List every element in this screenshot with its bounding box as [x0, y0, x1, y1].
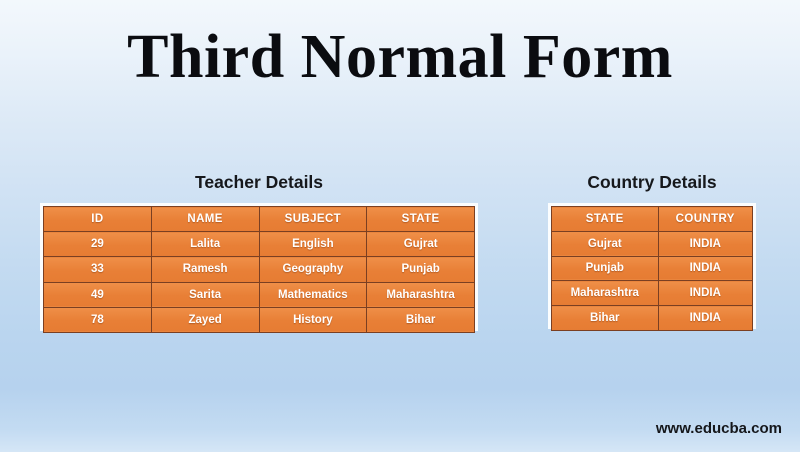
teacher-details-caption: Teacher Details	[40, 172, 478, 192]
footer-website-url: www.educba.com	[656, 420, 782, 438]
cell-name: Sarita	[151, 282, 259, 307]
teacher-details-table-frame: ID NAME SUBJECT STATE 29 Lalita English …	[40, 203, 478, 331]
teacher-details-table: ID NAME SUBJECT STATE 29 Lalita English …	[43, 206, 475, 333]
column-header-name: NAME	[151, 207, 259, 232]
cell-subject: Mathematics	[259, 282, 367, 307]
cell-state: Maharashtra	[367, 282, 475, 307]
cell-name: Ramesh	[151, 257, 259, 282]
cell-state: Maharashtra	[552, 281, 659, 306]
column-header-state: STATE	[552, 207, 659, 232]
table-row: 29 Lalita English Gujrat	[44, 232, 475, 257]
cell-country: INDIA	[658, 231, 752, 256]
table-row: Bihar INDIA	[552, 306, 753, 331]
table-header-row: ID NAME SUBJECT STATE	[44, 207, 475, 232]
cell-state: Gujrat	[552, 231, 659, 256]
page-title: Third Normal Form	[0, 22, 800, 92]
cell-state: Bihar	[552, 306, 659, 331]
cell-state: Punjab	[552, 256, 659, 281]
cell-state: Gujrat	[367, 232, 475, 257]
cell-name: Lalita	[151, 232, 259, 257]
cell-subject: Geography	[259, 257, 367, 282]
country-details-table: STATE COUNTRY Gujrat INDIA Punjab INDIA …	[551, 206, 753, 331]
slide-canvas: Third Normal Form Teacher Details ID NAM…	[0, 0, 800, 452]
table-header-row: STATE COUNTRY	[552, 207, 753, 232]
table-row: Maharashtra INDIA	[552, 281, 753, 306]
cell-state: Bihar	[367, 307, 475, 332]
cell-id: 78	[44, 307, 152, 332]
cell-subject: English	[259, 232, 367, 257]
column-header-state: STATE	[367, 207, 475, 232]
column-header-country: COUNTRY	[658, 207, 752, 232]
country-details-table-frame: STATE COUNTRY Gujrat INDIA Punjab INDIA …	[548, 203, 756, 329]
cell-country: INDIA	[658, 306, 752, 331]
cell-country: INDIA	[658, 256, 752, 281]
cell-name: Zayed	[151, 307, 259, 332]
cell-id: 33	[44, 257, 152, 282]
table-row: Gujrat INDIA	[552, 231, 753, 256]
column-header-subject: SUBJECT	[259, 207, 367, 232]
table-row: 78 Zayed History Bihar	[44, 307, 475, 332]
column-header-id: ID	[44, 207, 152, 232]
table-row: 33 Ramesh Geography Punjab	[44, 257, 475, 282]
cell-id: 29	[44, 232, 152, 257]
cell-country: INDIA	[658, 281, 752, 306]
cell-id: 49	[44, 282, 152, 307]
table-row: Punjab INDIA	[552, 256, 753, 281]
country-details-caption: Country Details	[548, 172, 756, 192]
cell-state: Punjab	[367, 257, 475, 282]
table-row: 49 Sarita Mathematics Maharashtra	[44, 282, 475, 307]
cell-subject: History	[259, 307, 367, 332]
